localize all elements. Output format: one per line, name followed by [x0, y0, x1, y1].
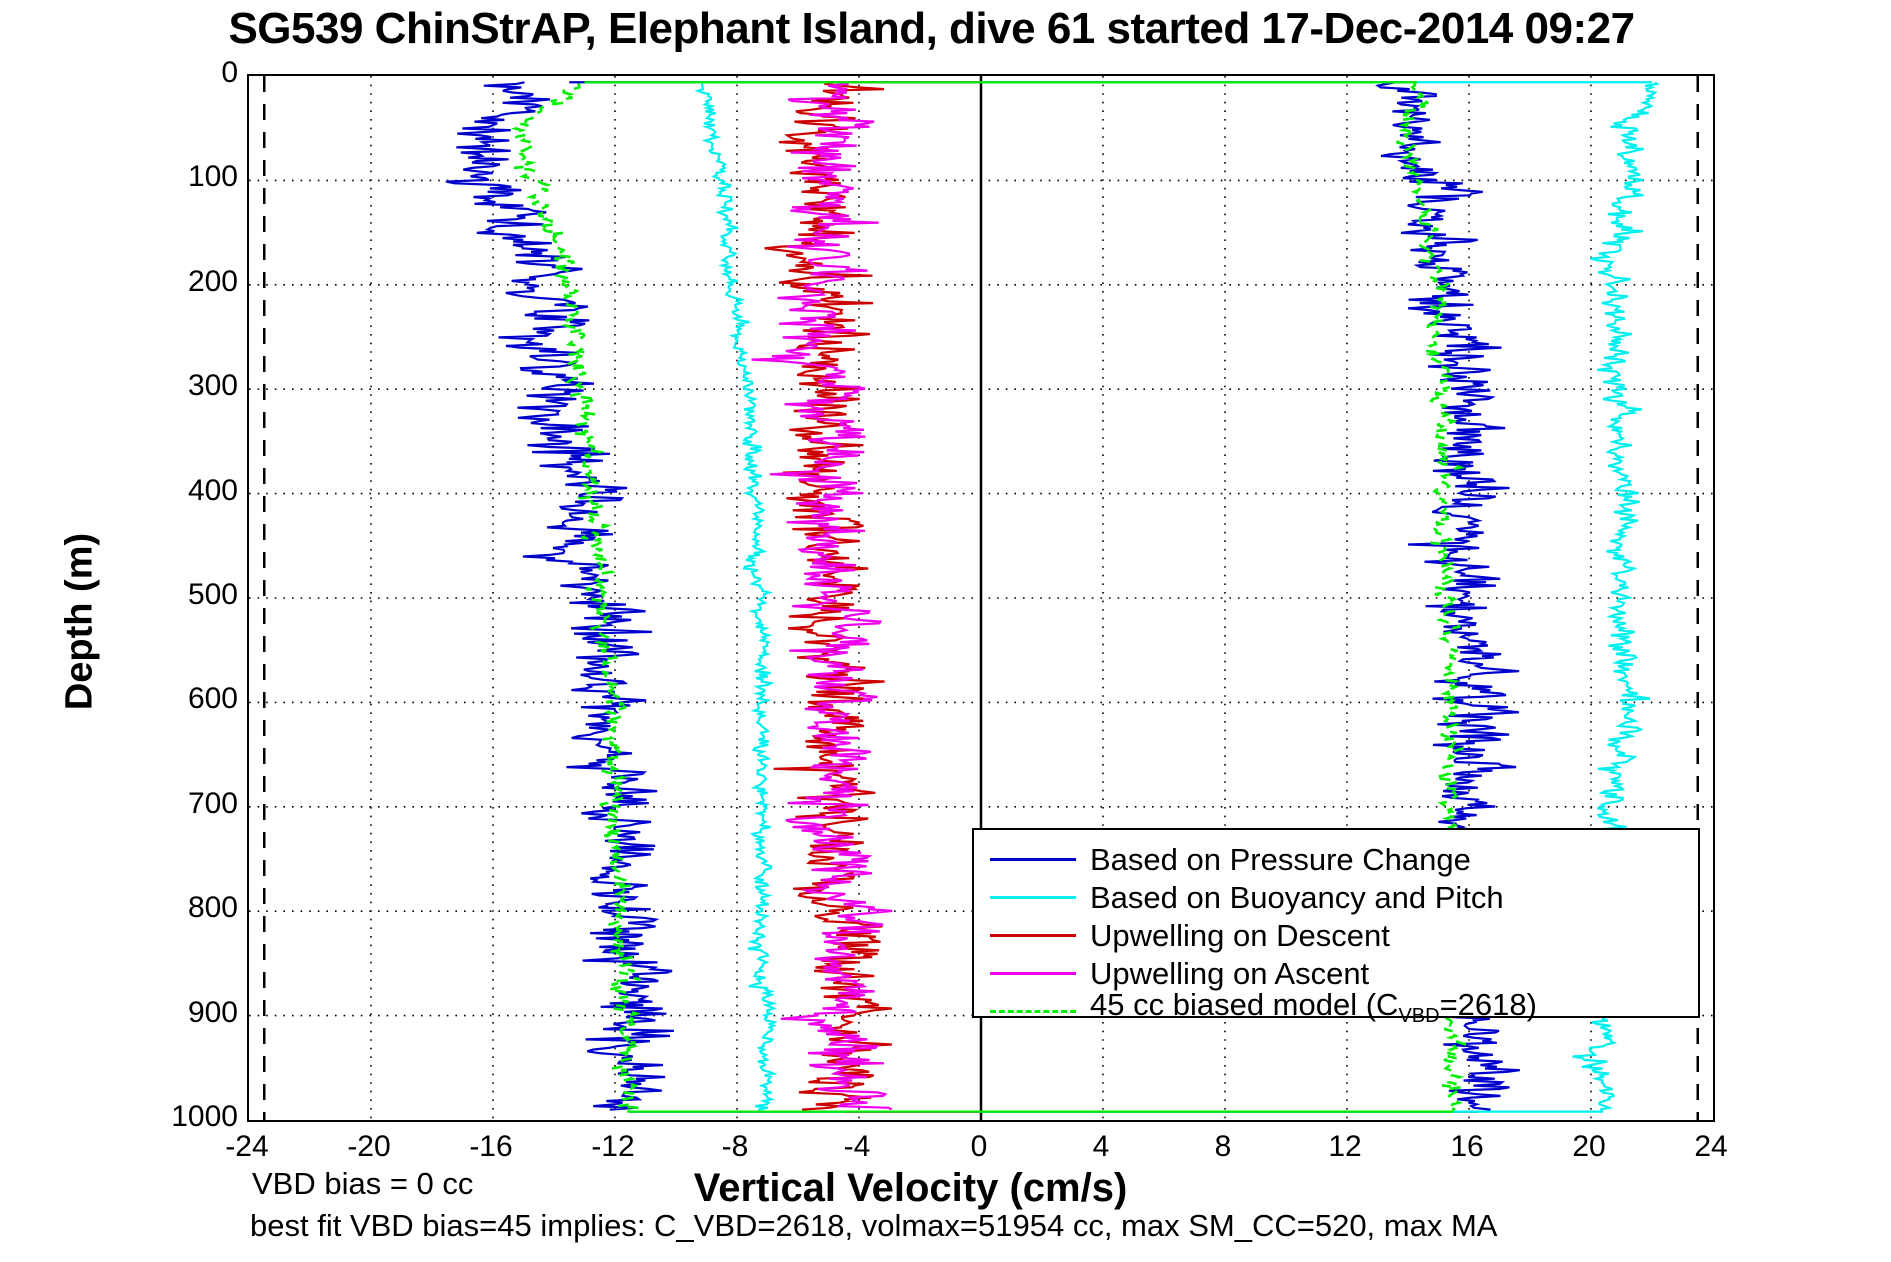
y-axis-label-wrapper: Depth (m) [60, 60, 120, 1060]
x-tick-label: -12 [553, 1130, 673, 1164]
legend-item-label: Based on Buoyancy and Pitch [1090, 882, 1504, 913]
legend-line-icon [990, 1010, 1076, 1013]
legend-item-label: Based on Pressure Change [1090, 844, 1471, 875]
y-axis-tick-labels: 01002003004005006007008009001000 [150, 0, 238, 1262]
y-tick-label: 500 [158, 580, 238, 610]
legend-item-label: Upwelling on Descent [1090, 920, 1390, 951]
data-series-6 [514, 82, 641, 1109]
y-tick-label: 900 [158, 998, 238, 1028]
chart-title-text: SG539 ChinStrAP, Elephant Island, dive 6… [228, 4, 1634, 54]
legend-item[interactable]: Upwelling on Descent [974, 916, 1698, 954]
x-tick-label: 0 [919, 1130, 1039, 1164]
best-fit-annotation: best fit VBD bias=45 implies: C_VBD=2618… [250, 1208, 1497, 1244]
x-tick-label: 8 [1163, 1130, 1283, 1164]
legend-line-icon [990, 896, 1076, 899]
x-tick-label: -4 [797, 1130, 917, 1164]
data-series-0 [446, 82, 674, 1109]
y-tick-label: 400 [158, 476, 238, 506]
legend-line-icon [990, 934, 1076, 937]
legend-item-label: 45 cc biased model (CVBD=2618) [1090, 989, 1537, 1032]
vbd-bias-annotation: VBD bias = 0 cc [252, 1166, 473, 1202]
y-axis-label: Depth (m) [59, 362, 102, 882]
legend-item-label: Upwelling on Ascent [1090, 958, 1369, 989]
y-tick-label: 600 [158, 684, 238, 714]
y-tick-label: 0 [158, 58, 238, 88]
x-tick-label: -16 [431, 1130, 551, 1164]
y-tick-label: 700 [158, 789, 238, 819]
x-tick-label: -8 [675, 1130, 795, 1164]
legend-box: Based on Pressure ChangeBased on Buoyanc… [972, 828, 1700, 1018]
y-tick-label: 800 [158, 893, 238, 923]
legend-subscript: VBD [1398, 1006, 1439, 1028]
x-tick-label: 4 [1041, 1130, 1161, 1164]
x-tick-label: 24 [1651, 1130, 1771, 1164]
chart-title: SG539 ChinStrAP, Elephant Island, dive 6… [0, 4, 1891, 54]
x-tick-label: -24 [187, 1130, 307, 1164]
legend-item[interactable]: Based on Pressure Change [974, 840, 1698, 878]
legend-item[interactable]: Based on Buoyancy and Pitch [974, 878, 1698, 916]
x-tick-label: 20 [1529, 1130, 1649, 1164]
x-tick-label: 16 [1407, 1130, 1527, 1164]
x-axis-label-text: Vertical Velocity (cm/s) [694, 1166, 1128, 1211]
legend-item[interactable]: 45 cc biased model (CVBD=2618) [974, 992, 1698, 1030]
y-tick-label: 100 [158, 162, 238, 192]
y-tick-label: 1000 [158, 1102, 238, 1132]
legend-line-icon [990, 972, 1076, 975]
legend-line-icon [990, 858, 1076, 861]
x-tick-label: -20 [309, 1130, 429, 1164]
x-tick-label: 12 [1285, 1130, 1405, 1164]
y-tick-label: 300 [158, 371, 238, 401]
data-series-2 [698, 82, 775, 1109]
legend-item[interactable]: Upwelling on Ascent [974, 954, 1698, 992]
y-tick-label: 200 [158, 267, 238, 297]
